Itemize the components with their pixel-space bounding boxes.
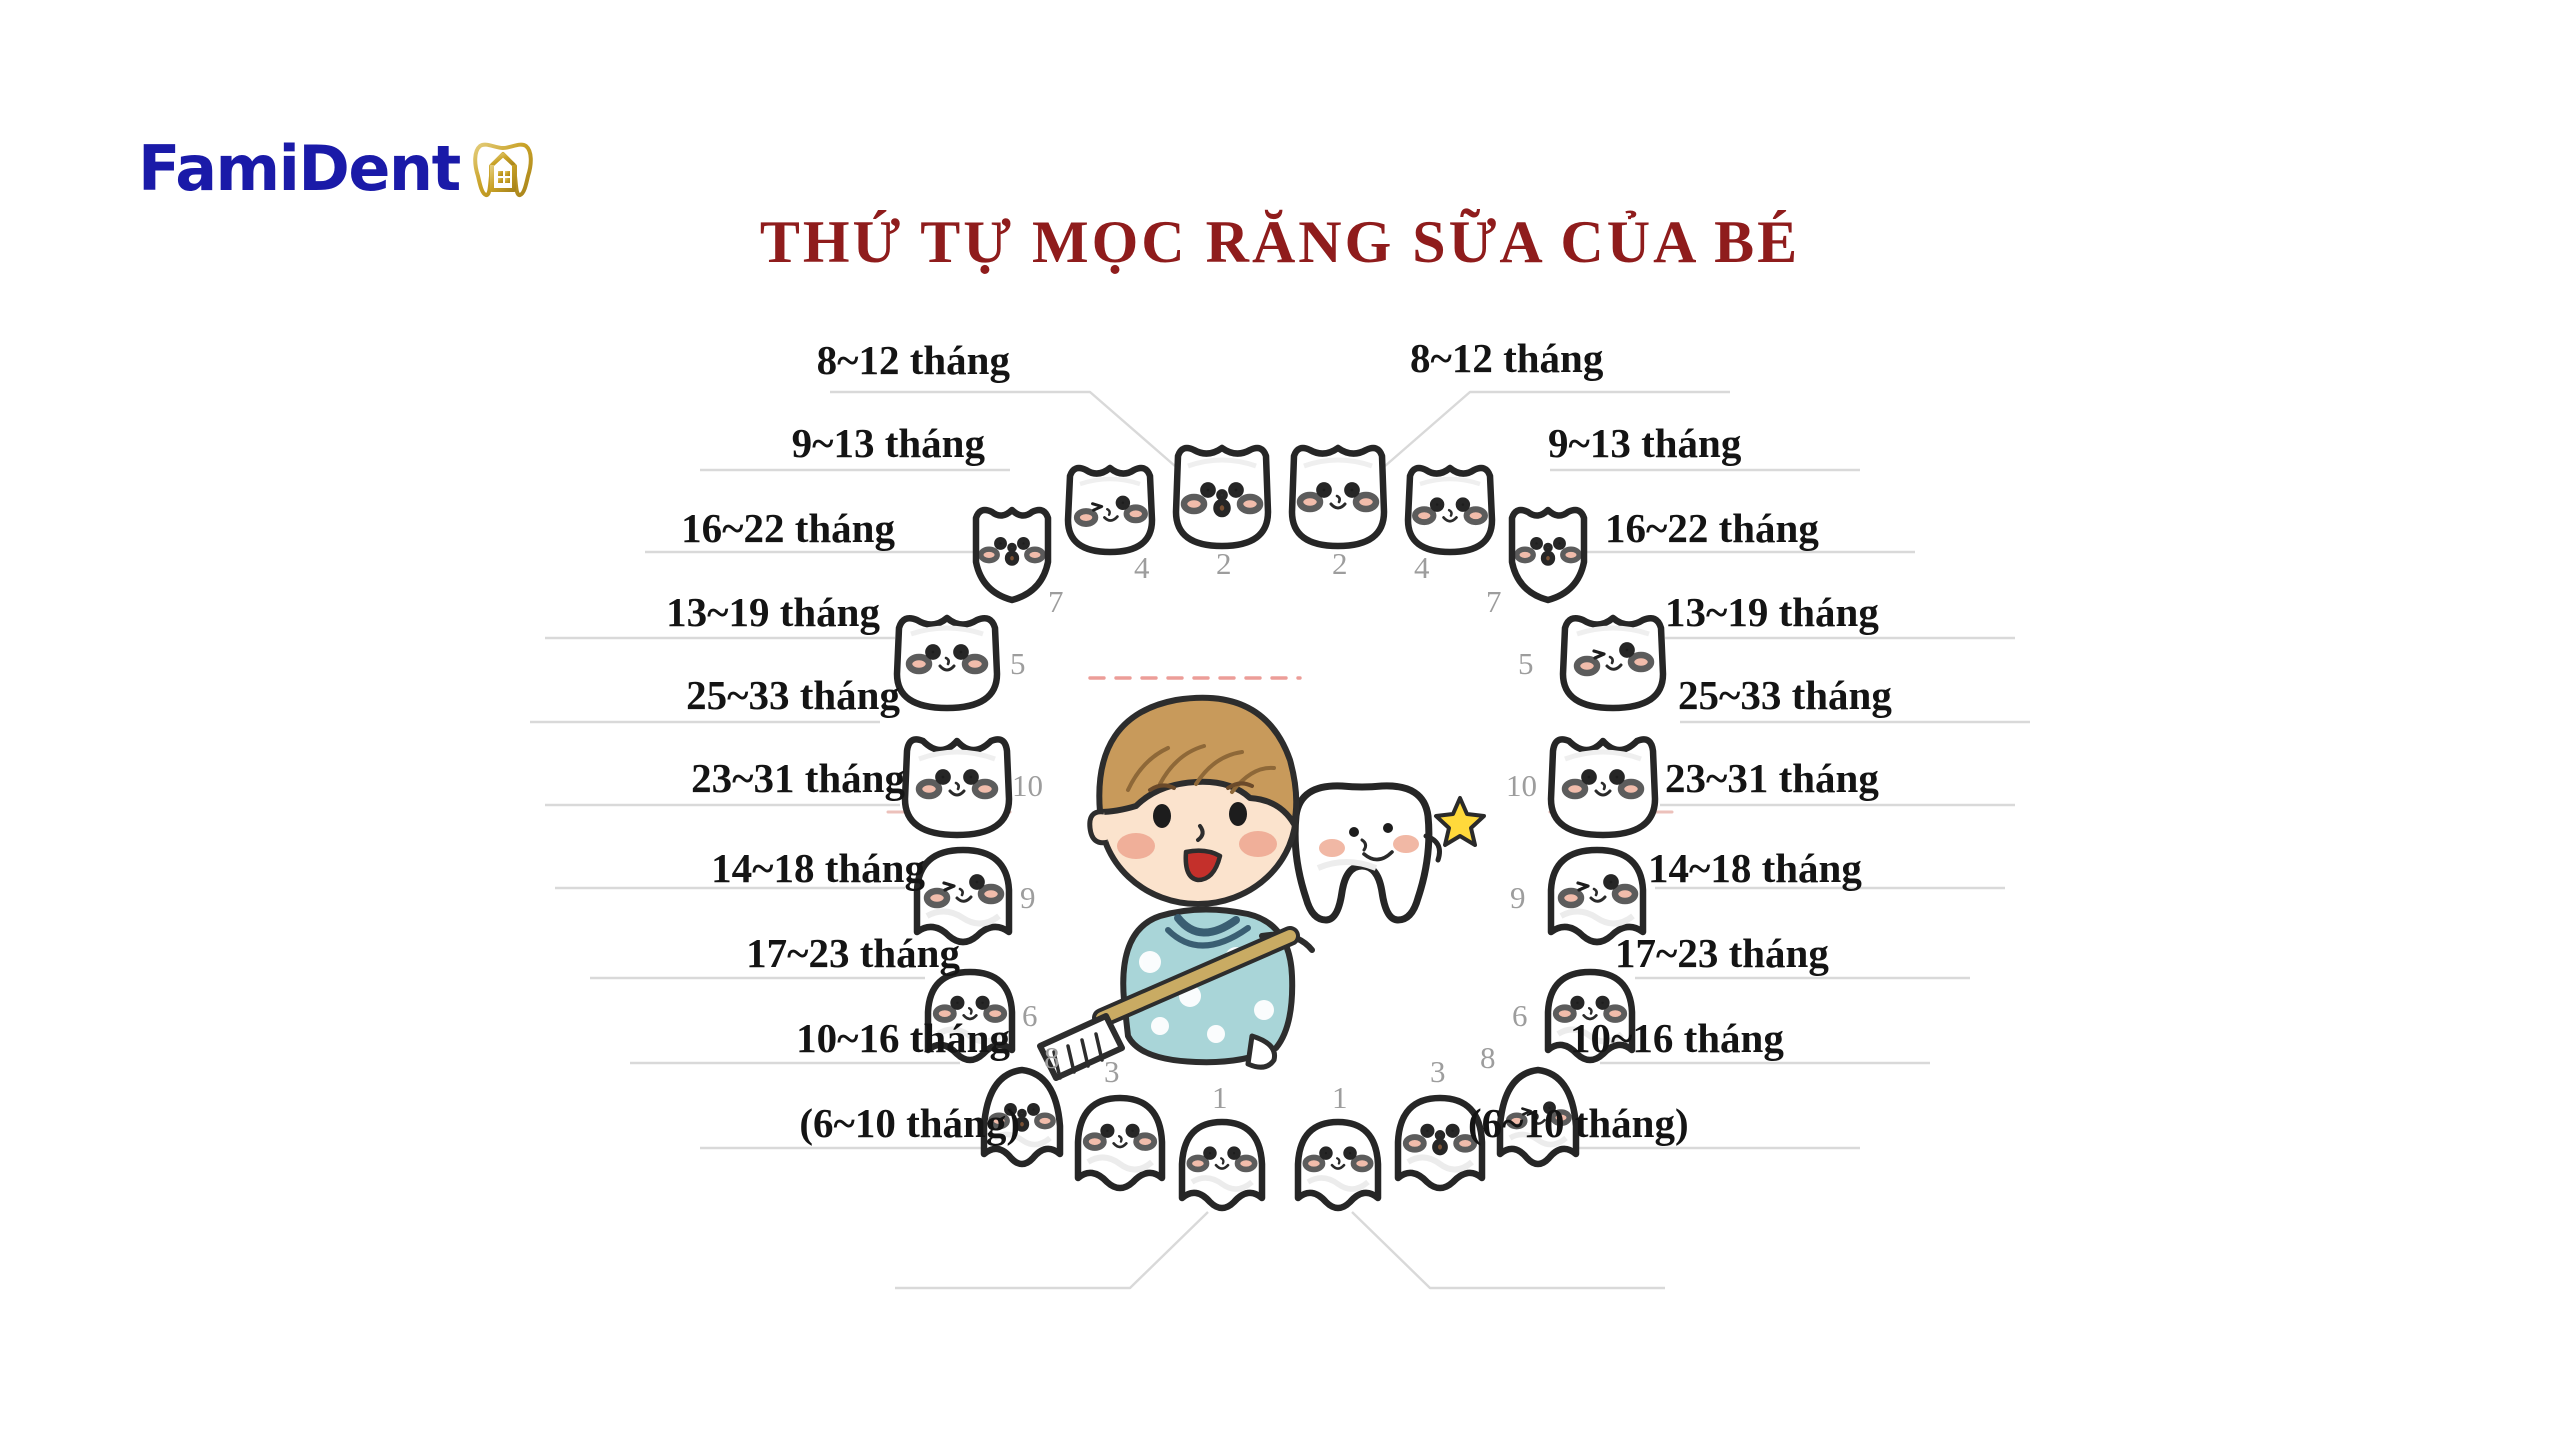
- label-left-1: 9~13 tháng: [480, 423, 985, 464]
- tooth-number-lower-6-left: 6: [1022, 1000, 1038, 1031]
- tooth-upper-10-right: [1551, 739, 1655, 835]
- label-right-6: 14~18 tháng: [1648, 848, 2148, 889]
- label-right-1: 9~13 tháng: [1548, 423, 2048, 464]
- tooth-number-lower-1-left: 1: [1212, 1082, 1228, 1113]
- label-right-0: 8~12 tháng: [1410, 338, 1910, 379]
- tooth-upper-2-right: [1292, 448, 1384, 546]
- tooth-lower-1-left: [1182, 1122, 1262, 1208]
- teeth-arch-diagram: [0, 0, 2560, 1439]
- tooth-upper-4-left: [1068, 468, 1152, 552]
- tooth-number-upper-4-left: 4: [1134, 552, 1150, 583]
- tooth-lower-9-left: [917, 850, 1009, 942]
- tooth-number-upper-2-left: 2: [1216, 548, 1232, 579]
- tooth-number-upper-4-right: 4: [1414, 552, 1430, 583]
- tooth-number-lower-9-right: 9: [1510, 882, 1526, 913]
- happy-tooth-mascot: [1295, 786, 1439, 920]
- tooth-number-lower-3-left: 3: [1104, 1056, 1120, 1087]
- tooth-number-lower-9-left: 9: [1020, 882, 1036, 913]
- tooth-upper-5-right: [1563, 618, 1663, 708]
- tooth-number-upper-5-left: 5: [1010, 648, 1026, 679]
- label-left-8: 10~16 tháng: [545, 1018, 1010, 1059]
- tooth-upper-4-right: [1408, 468, 1492, 552]
- teething-chart-page: FamiDent THỨ TỰ MỌC RĂNG SỮA CỦA BÉ: [0, 0, 2560, 1439]
- label-right-4: 25~33 tháng: [1678, 675, 2178, 716]
- label-left-3: 13~19 tháng: [375, 592, 880, 633]
- label-right-8: 10~16 tháng: [1570, 1018, 2070, 1059]
- label-right-9: (6~10 tháng): [1468, 1103, 1968, 1144]
- tooth-number-lower-8-left: 8: [1044, 1042, 1060, 1073]
- tooth-number-upper-7-right: 7: [1486, 586, 1502, 617]
- tooth-upper-7-right: [1512, 510, 1584, 600]
- tooth-upper-10-left: [905, 739, 1009, 835]
- tooth-number-lower-3-right: 3: [1430, 1056, 1446, 1087]
- tooth-upper-2-left: [1176, 448, 1268, 546]
- tooth-upper-7-left: [976, 510, 1048, 600]
- tooth-number-upper-10-left: 10: [1012, 770, 1043, 801]
- tooth-number-lower-6-right: 6: [1512, 1000, 1528, 1031]
- label-left-9: (6~10 tháng): [590, 1103, 1020, 1144]
- label-left-6: 14~18 tháng: [435, 848, 925, 889]
- tooth-number-upper-7-left: 7: [1048, 586, 1064, 617]
- tooth-number-lower-1-right: 1: [1332, 1082, 1348, 1113]
- label-left-7: 17~23 tháng: [475, 933, 960, 974]
- tooth-number-upper-5-right: 5: [1518, 648, 1534, 679]
- label-right-3: 13~19 tháng: [1665, 592, 2165, 633]
- tooth-upper-5-left: [897, 618, 997, 708]
- star-sparkle-icon: [1436, 798, 1484, 845]
- label-right-5: 23~31 tháng: [1665, 758, 2165, 799]
- label-left-4: 25~33 tháng: [390, 675, 900, 716]
- tooth-lower-9-right: [1551, 850, 1643, 942]
- tooth-number-lower-8-right: 8: [1480, 1042, 1496, 1073]
- label-right-7: 17~23 tháng: [1615, 933, 2115, 974]
- label-left-2: 16~22 tháng: [390, 508, 895, 549]
- tooth-number-upper-10-right: 10: [1506, 770, 1537, 801]
- boy-figure: [1040, 698, 1312, 1078]
- tooth-lower-3-left: [1078, 1098, 1162, 1188]
- label-left-5: 23~31 tháng: [400, 758, 905, 799]
- tooth-number-upper-2-right: 2: [1332, 548, 1348, 579]
- center-illustration: [1040, 698, 1484, 1078]
- label-left-0: 8~12 tháng: [520, 340, 1010, 381]
- label-right-2: 16~22 tháng: [1605, 508, 2105, 549]
- tooth-lower-1-right: [1298, 1122, 1378, 1208]
